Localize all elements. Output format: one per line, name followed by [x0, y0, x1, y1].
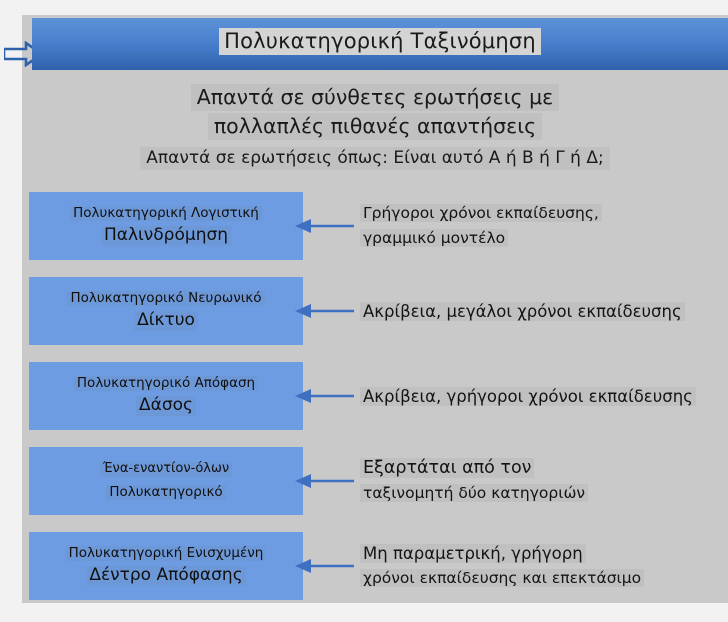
list-item: Πολυκατηγορικό Νευρωνικό Δίκτυο Ακρίβεια…	[22, 277, 728, 345]
note-1: Γρήγοροι χρόνοι εκπαίδευσης, γραμμικό μο…	[360, 192, 728, 260]
note-2: Ακρίβεια, μεγάλοι χρόνοι εκπαίδευσης	[360, 277, 728, 345]
note-3-line-1-text: Ακρίβεια, γρήγοροι χρόνοι εκπαίδευσης	[360, 387, 696, 406]
slide-canvas: Πολυκατηγορική Ταξινόμηση Απαντά σε σύνθ…	[22, 15, 728, 603]
classifier-box-3-line-2: Δάσος	[136, 396, 196, 416]
title-bar: Πολυκατηγορική Ταξινόμηση	[32, 18, 728, 70]
arrow-left-icon	[292, 471, 354, 491]
note-1-line-2-text: γραμμικό μοντέλο	[360, 229, 508, 247]
arrow-left-icon	[292, 386, 354, 406]
list-item: Ένα-εναντίον-όλων Πολυκατηγορικό Εξαρτάτ…	[22, 447, 728, 515]
arrow-left-icon	[292, 301, 354, 321]
arrow-left-icon	[292, 216, 354, 236]
classifier-box-2[interactable]: Πολυκατηγορικό Νευρωνικό Δίκτυο	[29, 277, 303, 345]
note-5-line-2-text: χρόνοι εκπαίδευσης και επεκτάσιμο	[360, 569, 644, 587]
note-5-line-1: Μη παραμετρική, γρήγορη	[360, 541, 728, 566]
classifier-box-2-line-2: Δίκτυο	[134, 311, 198, 331]
page-title-text: Πολυκατηγορική Ταξινόμηση	[219, 28, 541, 55]
classifier-box-1-line-1: Πολυκατηγορική Λογιστική	[70, 206, 262, 222]
note-1-line-1: Γρήγοροι χρόνοι εκπαίδευσης,	[360, 201, 728, 226]
classifier-box-1[interactable]: Πολυκατηγορική Λογιστική Παλινδρόμηση	[29, 192, 303, 260]
classifier-box-3-line-1: Πολυκατηγορικό Απόφαση	[74, 376, 258, 392]
subtitle-line-1: Απαντά σε σύνθετες ερωτήσεις με	[22, 83, 728, 112]
note-3-line-1: Ακρίβεια, γρήγοροι χρόνοι εκπαίδευσης	[360, 384, 728, 409]
note-4-line-2: ταξινομητή δύο κατηγοριών	[360, 481, 728, 506]
subtitle-line-2-text: πολλαπλές πιθανές απαντήσεις	[208, 113, 542, 140]
note-4-line-1-text: Εξαρτάται από τον	[360, 458, 534, 478]
note-3: Ακρίβεια, γρήγοροι χρόνοι εκπαίδευσης	[360, 362, 728, 430]
subtitle-detail-text: Απαντά σε ερωτήσεις όπως: Είναι αυτό Α ή…	[140, 147, 609, 170]
note-4-line-2-text: ταξινομητή δύο κατηγοριών	[360, 484, 588, 502]
note-4-line-1: Εξαρτάται από τον	[360, 456, 728, 481]
classifier-box-5-line-2: Δέντρο Απόφασης	[86, 566, 245, 586]
note-5-line-1-text: Μη παραμετρική, γρήγορη	[360, 544, 586, 563]
note-1-line-2: γραμμικό μοντέλο	[360, 226, 728, 251]
note-1-line-1-text: Γρήγοροι χρόνοι εκπαίδευσης,	[360, 204, 602, 222]
note-4: Εξαρτάται από τον ταξινομητή δύο κατηγορ…	[360, 447, 728, 515]
note-2-line-1-text: Ακρίβεια, μεγάλοι χρόνοι εκπαίδευσης	[360, 302, 685, 321]
note-5: Μη παραμετρική, γρήγορη χρόνοι εκπαίδευσ…	[360, 532, 728, 600]
arrow-left-icon	[292, 556, 354, 576]
page-title: Πολυκατηγορική Ταξινόμηση	[32, 29, 728, 53]
classifier-box-2-line-1: Πολυκατηγορικό Νευρωνικό	[67, 291, 264, 307]
list-item: Πολυκατηγορικό Απόφαση Δάσος Ακρίβεια, γ…	[22, 362, 728, 430]
classifier-box-1-line-2: Παλινδρόμηση	[101, 226, 231, 246]
list-item: Πολυκατηγορική Λογιστική Παλινδρόμηση Γρ…	[22, 192, 728, 260]
subtitle-line-2: πολλαπλές πιθανές απαντήσεις	[22, 112, 728, 141]
note-5-line-2: χρόνοι εκπαίδευσης και επεκτάσιμο	[360, 566, 728, 591]
classifier-box-5[interactable]: Πολυκατηγορική Ενισχυμένη Δέντρο Απόφαση…	[29, 532, 303, 600]
subtitle-detail: Απαντά σε ερωτήσεις όπως: Είναι αυτό Α ή…	[22, 146, 728, 170]
subtitle-line-1-text: Απαντά σε σύνθετες ερωτήσεις με	[191, 84, 559, 111]
classifier-box-4[interactable]: Ένα-εναντίον-όλων Πολυκατηγορικό	[29, 447, 303, 515]
list-item: Πολυκατηγορική Ενισχυμένη Δέντρο Απόφαση…	[22, 532, 728, 600]
classifier-box-5-line-1: Πολυκατηγορική Ενισχυμένη	[66, 546, 267, 562]
subtitle-block: Απαντά σε σύνθετες ερωτήσεις με πολλαπλέ…	[22, 83, 728, 170]
classifier-box-4-line-1: Ένα-εναντίον-όλων	[100, 462, 232, 477]
classifier-box-3[interactable]: Πολυκατηγορικό Απόφαση Δάσος	[29, 362, 303, 430]
classifier-box-4-line-2: Πολυκατηγορικό	[106, 485, 225, 501]
note-2-line-1: Ακρίβεια, μεγάλοι χρόνοι εκπαίδευσης	[360, 299, 728, 324]
